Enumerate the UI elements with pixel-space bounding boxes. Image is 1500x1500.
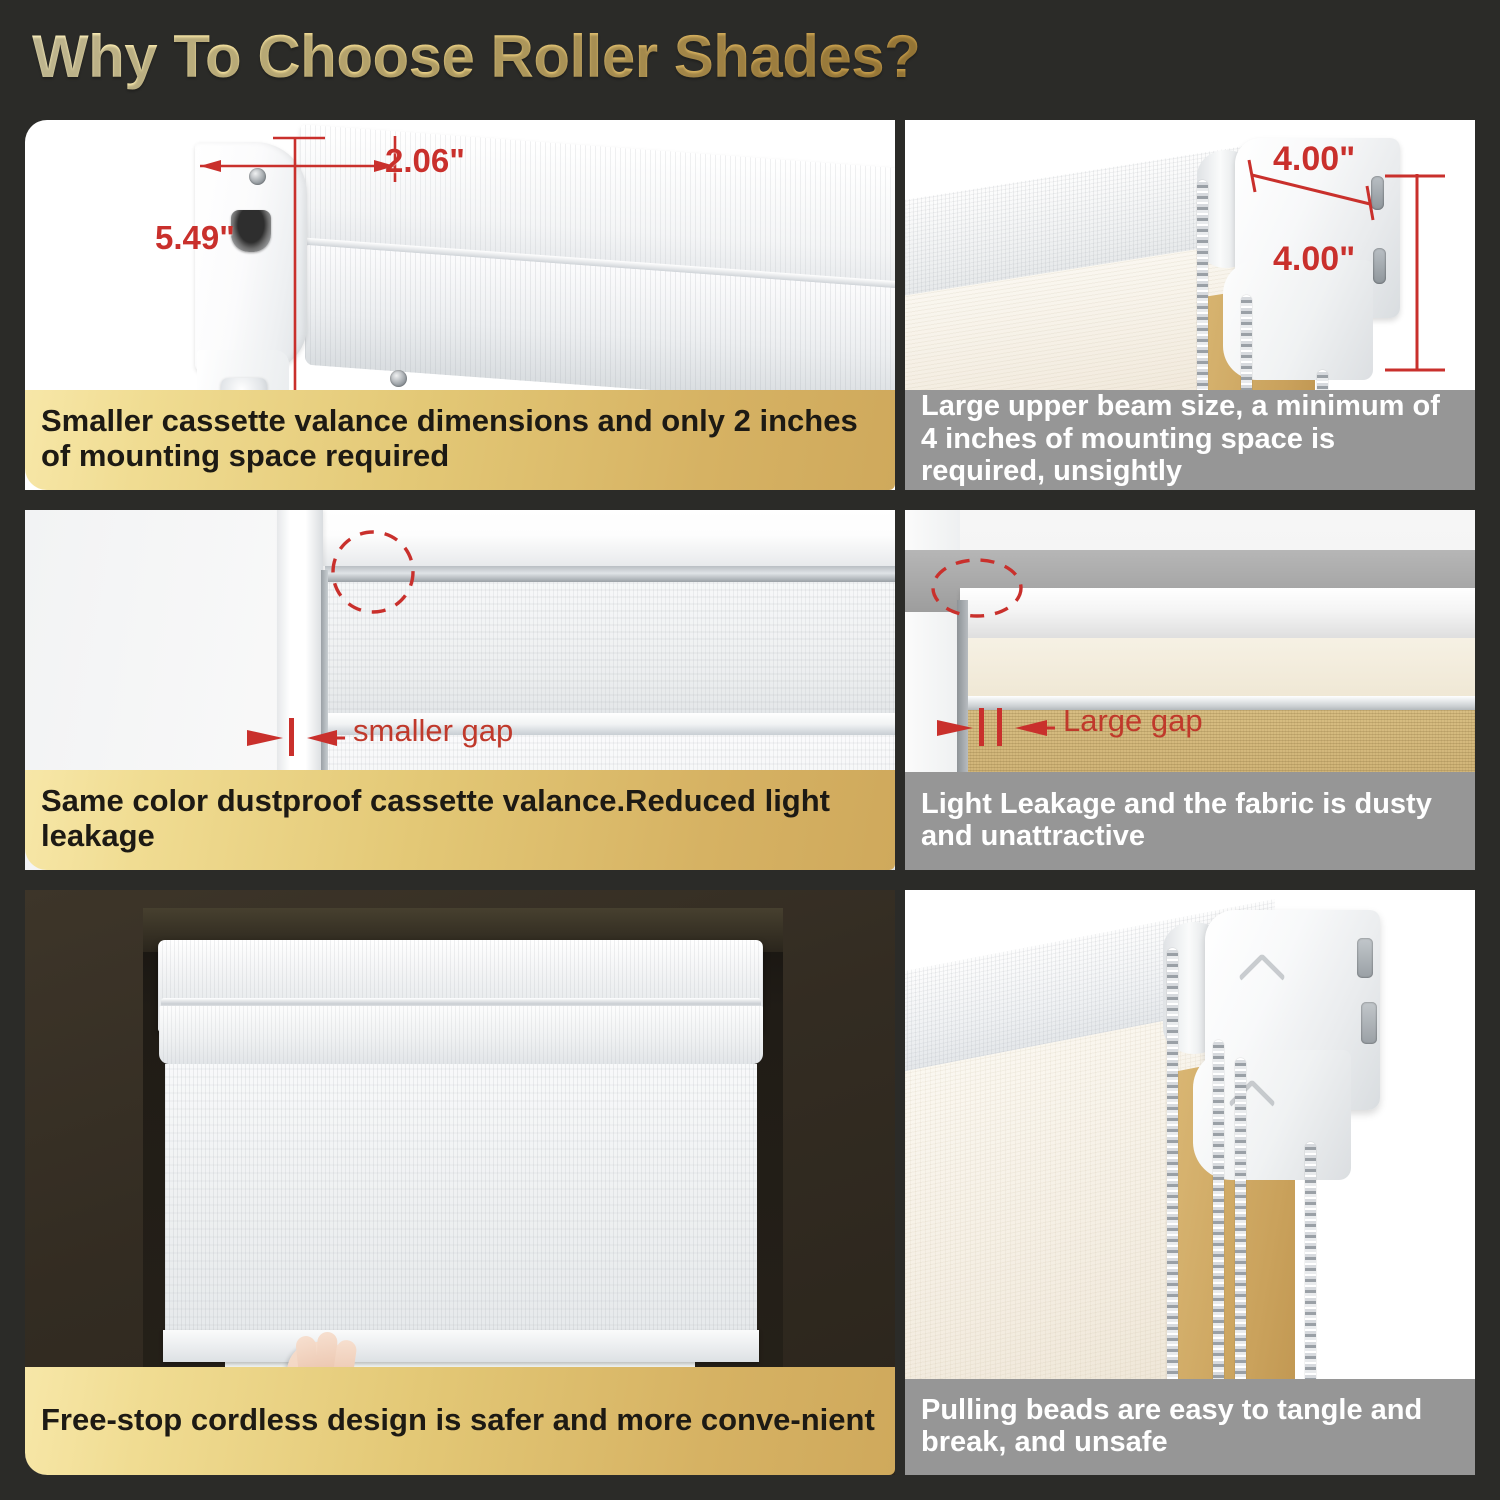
screw-icon (249, 168, 266, 185)
infographic-root: Why To Choose Roller Shades? (0, 0, 1500, 1500)
caption-panel-1: Smaller cassette valance dimensions and … (25, 390, 895, 490)
panel-large-upper-beam: 4.00" 4.00" Large upper beam size, a min… (905, 120, 1475, 490)
bead-chain (1235, 1058, 1246, 1410)
bead-chain (1213, 1040, 1224, 1410)
gap-label-smaller: smaller gap (353, 713, 513, 749)
caption-panel-4-text: Light Leakage and the fabric is dusty an… (921, 788, 1459, 853)
caption-panel-1-text: Smaller cassette valance dimensions and … (41, 404, 879, 473)
bracket-notch (1371, 176, 1384, 210)
panel-pulling-beads: Pulling beads are easy to tangle and bre… (905, 890, 1475, 1475)
shade-bottom-rail (163, 1330, 759, 1362)
caption-panel-2: Large upper beam size, a minimum of 4 in… (905, 390, 1475, 490)
caption-panel-5: Free-stop cordless design is safer and m… (25, 1367, 895, 1475)
cassette-valance-lower (159, 1006, 763, 1064)
dimension-label-width: 2.06" (385, 142, 465, 180)
caption-panel-4: Light Leakage and the fabric is dusty an… (905, 772, 1475, 870)
cream-fabric-band (965, 638, 1475, 700)
bracket-notch (1357, 938, 1373, 978)
panel-dustproof-cassette-valance: smaller gap Same color dustproof cassett… (25, 510, 895, 870)
shade-fabric-upper (325, 582, 895, 717)
caption-panel-5-text: Free-stop cordless design is safer and m… (41, 1403, 879, 1438)
bead-chain (1167, 948, 1178, 1408)
dimension-label-height: 4.00" (1273, 240, 1355, 279)
screw-icon (390, 370, 407, 387)
window-frame-top (277, 510, 895, 566)
bracket-notch (1361, 1002, 1377, 1044)
gap-label-large: Large gap (1063, 703, 1203, 739)
panel-light-leakage: Large gap Light Leakage and the fabric i… (905, 510, 1475, 870)
cassette-valance-rail (325, 566, 895, 582)
caption-panel-3: Same color dustproof cassette valance.Re… (25, 770, 895, 870)
caption-panel-6: Pulling beads are easy to tangle and bre… (905, 1379, 1475, 1475)
panel-free-stop-cordless: Free-stop cordless design is safer and m… (25, 890, 895, 1475)
page-title: Why To Choose Roller Shades? (32, 22, 920, 91)
panel-smaller-cassette-valance: 2.06" 5.49" Smaller cassette valance dim… (25, 120, 895, 490)
caption-panel-6-text: Pulling beads are easy to tangle and bre… (921, 1394, 1459, 1459)
caption-panel-3-text: Same color dustproof cassette valance.Re… (41, 784, 879, 853)
shade-fabric (165, 1064, 757, 1334)
bead-chain (1305, 1142, 1316, 1410)
caption-panel-2-text: Large upper beam size, a minimum of 4 in… (921, 390, 1459, 487)
bracket-notch (1373, 248, 1386, 284)
dimension-label-width: 4.00" (1273, 140, 1355, 179)
dimension-label-height: 5.49" (155, 219, 235, 257)
valance-roller-slot (231, 210, 271, 252)
